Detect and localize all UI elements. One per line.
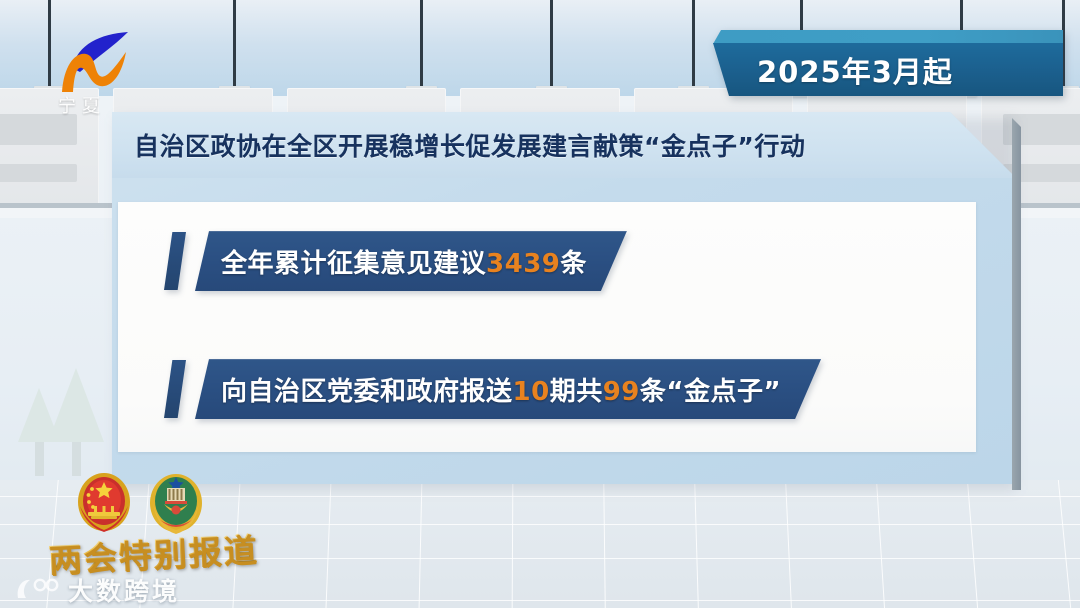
date-ribbon-label: 2025年3月起 bbox=[757, 49, 953, 91]
wall-panel-bar bbox=[0, 164, 77, 183]
bullet-text-segment: 向自治区党委和政府报送 bbox=[221, 377, 513, 407]
highlight-number: 3439 bbox=[486, 249, 560, 279]
highlight-number: 99 bbox=[603, 377, 640, 407]
national-emblem-icon bbox=[76, 472, 132, 534]
cppcc-emblem-icon bbox=[148, 472, 204, 534]
channel-name-label: 宁夏 bbox=[58, 92, 106, 118]
watermark: 大数跨境 bbox=[14, 572, 180, 608]
floor-tile-line bbox=[326, 480, 332, 608]
tree-crown-icon bbox=[48, 368, 104, 442]
date-ribbon-cap bbox=[711, 30, 1063, 44]
hanging-lamp-icon bbox=[550, 0, 553, 88]
card-content-board: 全年累计征集意见建议3439条 向自治区党委和政府报送10期共99条“金点子” bbox=[118, 202, 976, 452]
floor-tile-line bbox=[694, 480, 699, 608]
info-card: 自治区政协在全区开展稳增长促发展建言献策“金点子”行动 全年累计征集意见建议34… bbox=[112, 112, 1012, 484]
list-item-label: 全年累计征集意见建议3439条 bbox=[221, 243, 587, 280]
floor-tile-line bbox=[419, 480, 423, 608]
hanging-lamp-icon bbox=[233, 0, 236, 88]
bullet-text-segment: 条 bbox=[560, 249, 587, 279]
date-ribbon-body: 2025年3月起 bbox=[711, 43, 1063, 96]
bullet-text-segment: 全年累计征集意见建议 bbox=[221, 249, 486, 279]
date-ribbon: 2025年3月起 bbox=[711, 30, 1063, 96]
list-item: 全年累计征集意见建议3439条 bbox=[164, 230, 627, 292]
floor-tile-line bbox=[512, 480, 514, 608]
hanging-lamp-icon bbox=[692, 0, 695, 88]
floor-tile-line bbox=[876, 480, 885, 608]
floor-tile-line bbox=[967, 480, 978, 608]
card-3d-edge bbox=[1012, 118, 1021, 490]
floor-tile-line bbox=[1058, 480, 1071, 608]
bullet-text-segment: 条“金点子” bbox=[640, 377, 781, 407]
page-title: 自治区政协在全区开展稳增长促发展建言献策“金点子”行动 bbox=[134, 127, 805, 163]
floor-tile-line bbox=[603, 480, 606, 608]
hanging-lamp-icon bbox=[420, 0, 423, 88]
list-item-label: 向自治区党委和政府报送10期共99条“金点子” bbox=[221, 371, 781, 408]
card-headline-band: 自治区政协在全区开展稳增长促发展建言献策“金点子”行动 bbox=[112, 112, 1012, 178]
list-item: 向自治区党委和政府报送10期共99条“金点子” bbox=[164, 358, 821, 420]
dashu-logo-icon bbox=[14, 576, 60, 604]
bullet-slash-icon bbox=[164, 360, 186, 418]
ningxia-tv-logo: 宁夏 bbox=[42, 28, 162, 120]
tree-trunk bbox=[35, 442, 44, 476]
decorative-tree bbox=[48, 368, 104, 476]
broadcast-graphic-stage: 宁夏 2025年3月起 自治区政协在全区开展稳增长促发展建言献策“金点子”行动 … bbox=[0, 0, 1080, 608]
floor-tile-line bbox=[785, 480, 792, 608]
tree-trunk bbox=[72, 442, 81, 476]
bullet-text-segment: 期共 bbox=[550, 377, 603, 407]
bullet-slash-icon bbox=[164, 232, 186, 290]
bullet-plate: 向自治区党委和政府报送10期共99条“金点子” bbox=[195, 359, 821, 419]
highlight-number: 10 bbox=[513, 377, 550, 407]
watermark-text: 大数跨境 bbox=[68, 572, 180, 608]
bullet-plate: 全年累计征集意见建议3439条 bbox=[195, 231, 627, 291]
